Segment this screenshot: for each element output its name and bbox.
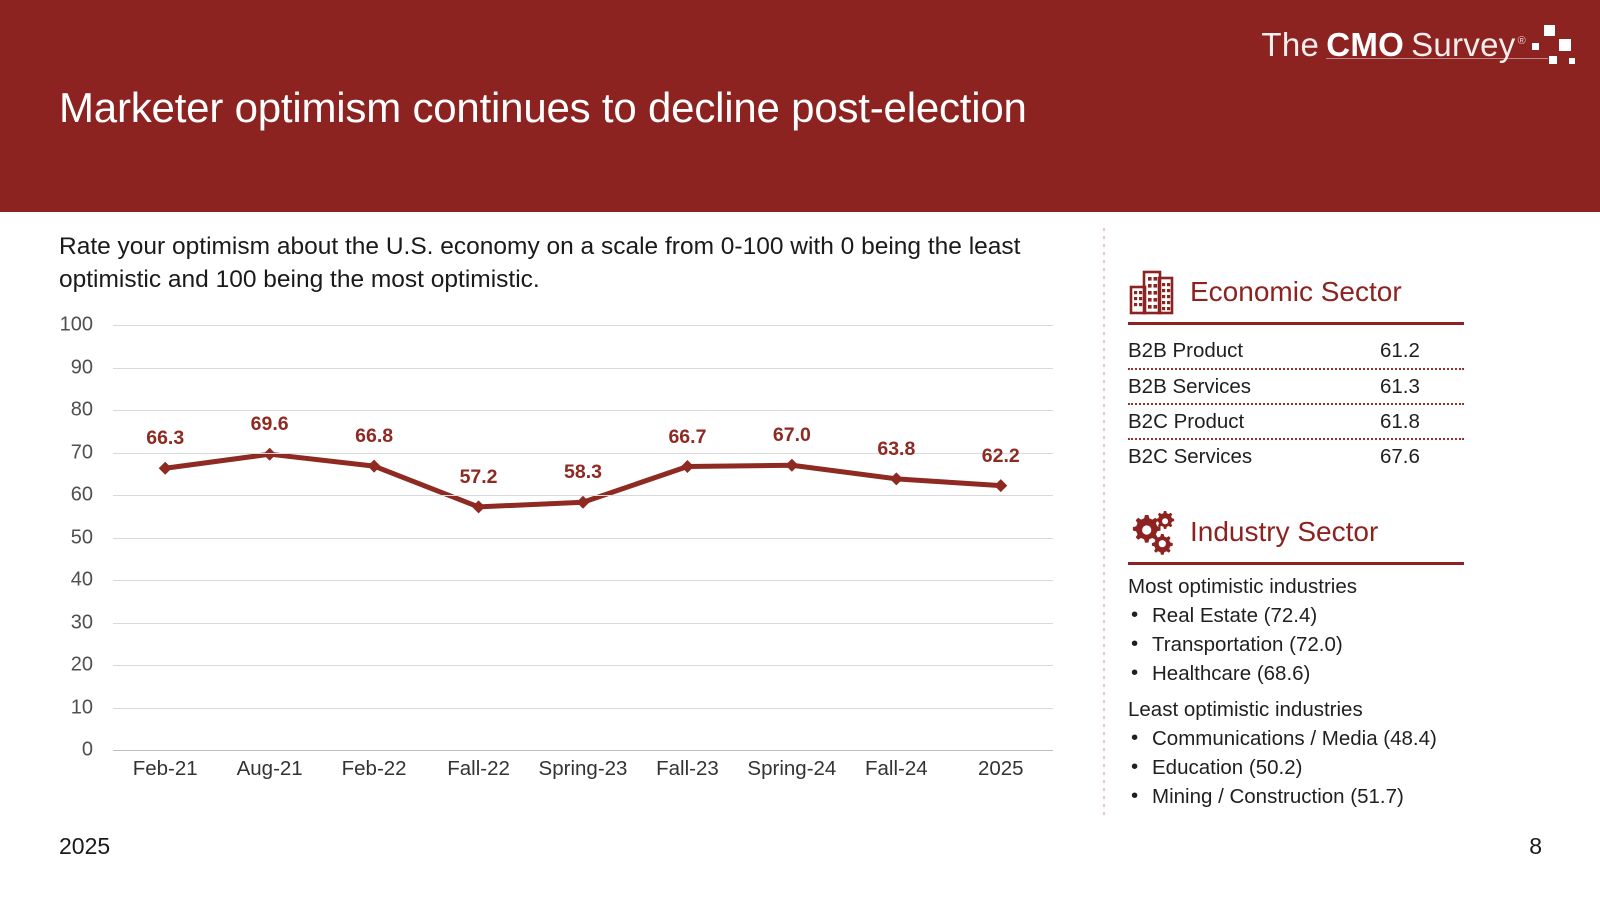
most-optimistic-label: Most optimistic industries [1128,575,1470,599]
list-item: Communications / Media (48.4) [1128,724,1470,753]
chart-gridline [113,368,1053,369]
footer-year: 2025 [59,833,110,860]
sector-name: B2B Product [1128,339,1368,363]
table-row: B2C Product61.8 [1128,403,1464,438]
sector-value: 61.3 [1368,375,1464,399]
y-axis-tick: 80 [45,399,93,422]
chart-gridline [113,623,1053,624]
data-label: 66.7 [668,426,706,449]
economic-sector-panel: Economic Sector B2B Product61.2B2B Servi… [1128,268,1470,473]
most-optimistic-list: Real Estate (72.4)Transportation (72.0)H… [1128,601,1470,688]
series-marker [368,460,381,473]
chart-gridline [113,665,1053,666]
x-axis-tick: Spring-24 [747,757,836,781]
chart-gridline [113,325,1053,326]
series-marker [994,479,1007,492]
chart-x-axis: Feb-21Aug-21Feb-22Fall-22Spring-23Fall-2… [113,757,1053,791]
economic-sector-table: B2B Product61.2B2B Services61.3B2C Produ… [1128,333,1464,473]
industry-sector-panel: Industry Sector Most optimistic industri… [1128,508,1470,811]
data-label: 69.6 [251,413,289,436]
logo-the-text: The [1261,26,1319,64]
list-item: Real Estate (72.4) [1128,601,1470,630]
sector-value: 61.8 [1368,410,1464,434]
y-axis-tick: 50 [45,526,93,549]
list-item: Mining / Construction (51.7) [1128,782,1470,811]
chart-gridline [113,750,1053,751]
series-marker [577,496,590,509]
economic-sector-rule [1128,322,1464,325]
y-axis-tick: 100 [45,314,93,337]
least-optimistic-label: Least optimistic industries [1128,698,1470,722]
survey-question: Rate your optimism about the U.S. econom… [59,230,1084,296]
optimism-line-chart: 1009080706050403020100 66.369.666.857.25… [45,325,1065,795]
series-marker [785,459,798,472]
sector-name: B2C Product [1128,410,1368,434]
gears-icon [1128,508,1180,556]
cmo-survey-logo: The CMO Survey ® [1261,22,1578,68]
header-bar: The CMO Survey ® Marketer optimism conti… [0,0,1600,212]
logo-dots-icon [1532,23,1578,67]
x-axis-tick: Fall-22 [447,757,510,781]
data-label: 63.8 [877,438,915,461]
table-row: B2B Services61.3 [1128,368,1464,403]
data-label: 62.2 [982,445,1020,468]
list-item: Transportation (72.0) [1128,630,1470,659]
data-label: 66.3 [146,427,184,450]
y-axis-tick: 60 [45,484,93,507]
series-marker [159,462,172,475]
series-marker [890,472,903,485]
y-axis-tick: 30 [45,611,93,634]
chart-gridline [113,495,1053,496]
y-axis-tick: 90 [45,356,93,379]
panel-divider [1103,228,1105,818]
data-label: 57.2 [460,466,498,489]
x-axis-tick: Fall-24 [865,757,928,781]
y-axis-tick: 0 [45,739,93,762]
chart-y-axis: 1009080706050403020100 [45,325,103,750]
x-axis-tick: Spring-23 [539,757,628,781]
registered-mark-icon: ® [1518,35,1526,47]
x-axis-tick: Feb-22 [342,757,407,781]
x-axis-tick: 2025 [978,757,1024,781]
series-marker [472,500,485,513]
sector-name: B2B Services [1128,375,1368,399]
chart-gridline [113,580,1053,581]
y-axis-tick: 20 [45,654,93,677]
industry-sector-header: Industry Sector [1128,508,1470,556]
list-item: Healthcare (68.6) [1128,659,1470,688]
y-axis-tick: 70 [45,441,93,464]
x-axis-tick: Fall-23 [656,757,719,781]
least-optimistic-list: Communications / Media (48.4)Education (… [1128,724,1470,811]
list-item: Education (50.2) [1128,753,1470,782]
data-label: 58.3 [564,461,602,484]
chart-gridline [113,410,1053,411]
table-row: B2B Product61.2 [1128,333,1464,368]
chart-plot-area: 66.369.666.857.258.366.767.063.862.2 [113,325,1053,750]
sector-value: 67.6 [1368,445,1464,469]
sector-name: B2C Services [1128,445,1368,469]
chart-gridline [113,708,1053,709]
series-marker [263,448,276,461]
table-row: B2C Services67.6 [1128,438,1464,473]
data-label: 67.0 [773,424,811,447]
sector-value: 61.2 [1368,339,1464,363]
x-axis-tick: Aug-21 [237,757,303,781]
x-axis-tick: Feb-21 [133,757,198,781]
page-title: Marketer optimism continues to decline p… [59,84,1027,132]
industry-sector-rule [1128,562,1464,565]
series-marker [681,460,694,473]
logo-underline [1326,58,1548,59]
y-axis-tick: 40 [45,569,93,592]
slide: The CMO Survey ® Marketer optimism conti… [0,0,1600,900]
industry-sector-title: Industry Sector [1190,516,1378,548]
economic-sector-title: Economic Sector [1190,276,1402,308]
y-axis-tick: 10 [45,696,93,719]
data-label: 66.8 [355,425,393,448]
economic-sector-header: Economic Sector [1128,268,1470,316]
footer-page-number: 8 [1529,833,1542,860]
buildings-icon [1128,268,1180,316]
chart-gridline [113,538,1053,539]
